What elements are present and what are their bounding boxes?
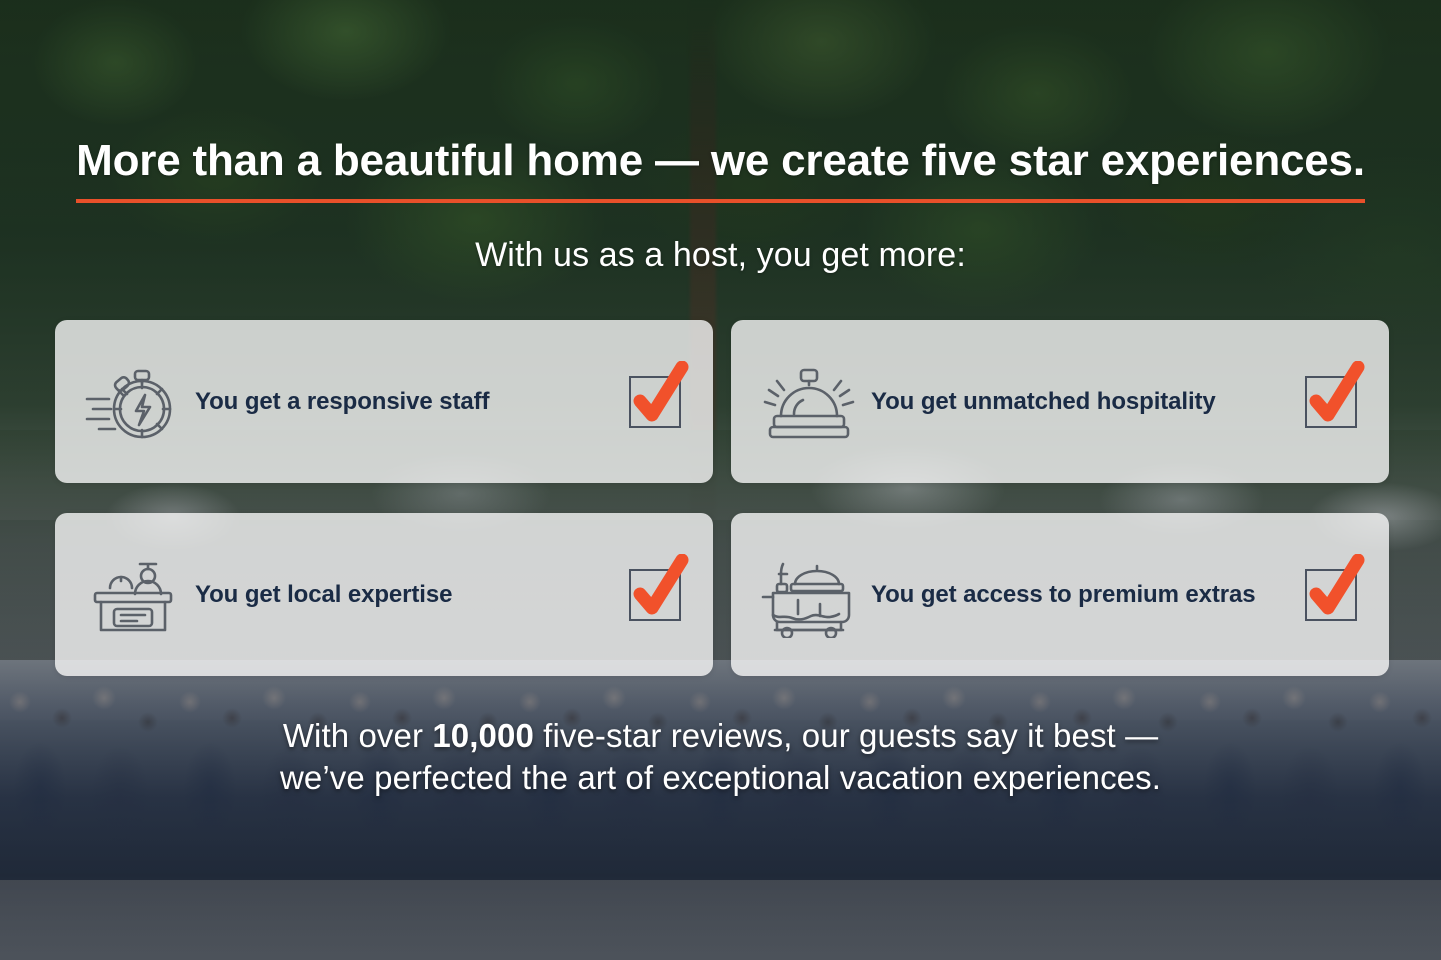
benefits-grid: You get a responsive staff — [55, 320, 1389, 676]
room-service-cart-icon — [761, 552, 857, 638]
benefit-label: You get local expertise — [181, 581, 629, 609]
checkbox-responsive-staff[interactable] — [629, 376, 681, 428]
footer-review-count: 10,000 — [432, 717, 534, 754]
benefit-card-local-expertise[interactable]: You get local expertise — [55, 513, 713, 676]
benefit-label: You get access to premium extras — [857, 581, 1305, 609]
page-title: More than a beautiful home — we create f… — [76, 136, 1365, 203]
subheadline: With us as a host, you get more: — [0, 236, 1441, 275]
benefit-label: You get unmatched hospitality — [857, 388, 1305, 416]
benefit-card-responsive-staff[interactable]: You get a responsive staff — [55, 320, 713, 483]
benefit-card-premium-extras[interactable]: You get access to premium extras — [731, 513, 1389, 676]
headline-container: More than a beautiful home — we create f… — [0, 136, 1441, 203]
benefit-card-unmatched-hospitality[interactable]: You get unmatched hospitality — [731, 320, 1389, 483]
reception-desk-icon — [85, 552, 181, 638]
checkbox-unmatched-hospitality[interactable] — [1305, 376, 1357, 428]
checkbox-local-expertise[interactable] — [629, 569, 681, 621]
stopwatch-speed-icon — [85, 359, 181, 445]
service-bell-icon — [761, 359, 857, 445]
footer-statement: With over 10,000 five-star reviews, our … — [0, 715, 1441, 799]
benefit-label: You get a responsive staff — [181, 388, 629, 416]
hero-content: More than a beautiful home — we create f… — [0, 0, 1441, 960]
hero-section: More than a beautiful home — we create f… — [0, 0, 1441, 960]
footer-line1-after: five-star reviews, our guests say it bes… — [534, 717, 1158, 754]
footer-line1-before: With over — [283, 717, 433, 754]
checkbox-premium-extras[interactable] — [1305, 569, 1357, 621]
footer-line2: we’ve perfected the art of exceptional v… — [280, 759, 1161, 796]
